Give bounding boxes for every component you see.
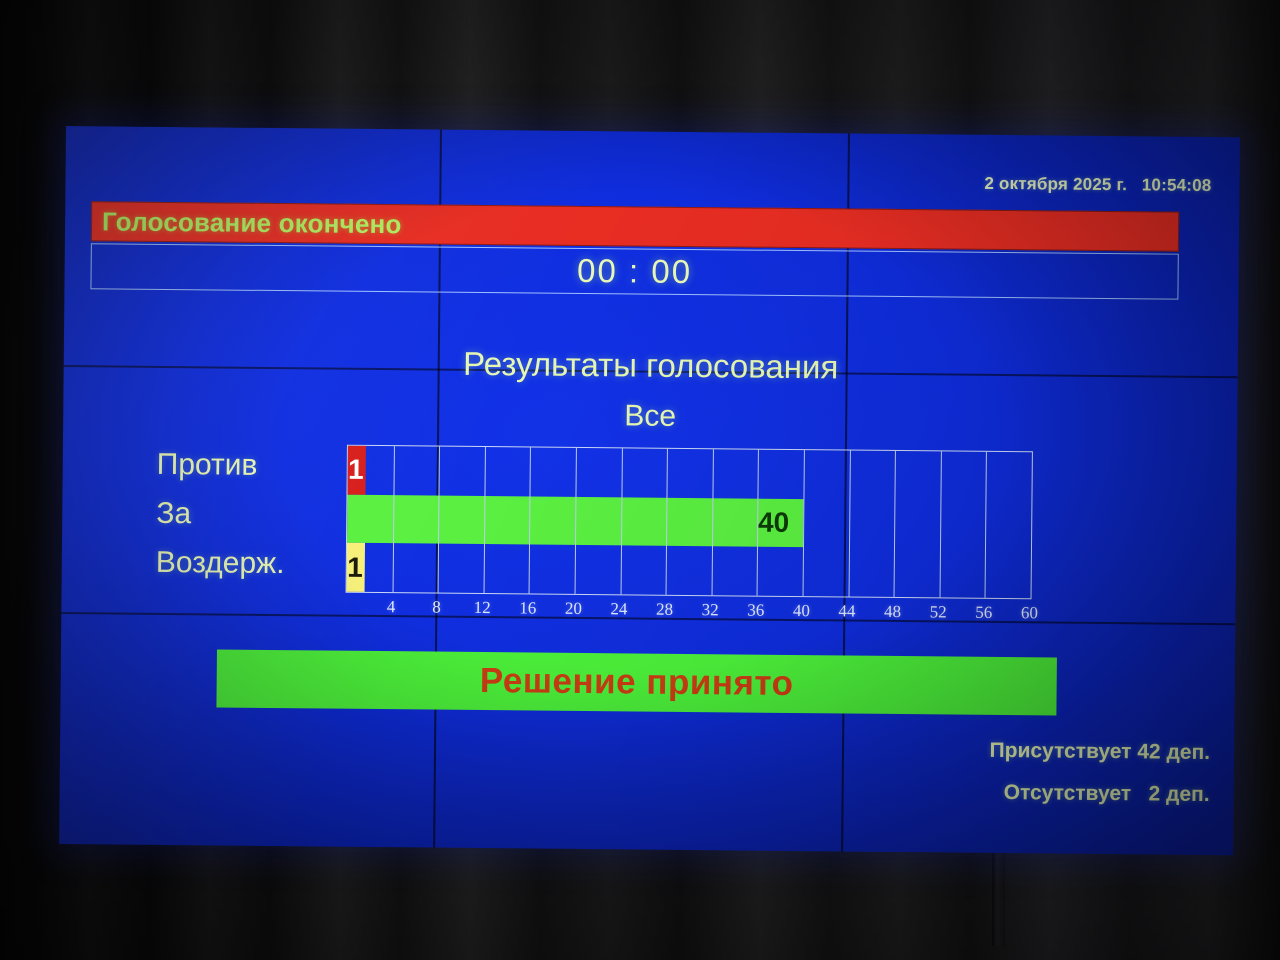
chart-x-tick: 16	[519, 598, 536, 618]
chart-x-tick: 24	[610, 599, 627, 619]
vote-results-chart: Против За Воздерж. 1 40 1 48121620242832…	[61, 436, 1237, 637]
chart-x-tick: 56	[975, 603, 992, 623]
countdown-timer-value: 00 : 00	[577, 252, 692, 291]
countdown-timer-box: 00 : 00	[90, 243, 1178, 299]
chart-row-label-against: Против	[157, 448, 347, 484]
attendance-present: Присутствует 42 деп.	[989, 739, 1210, 765]
voting-status-label: Голосование окончено	[92, 206, 402, 240]
results-scope-label: Все	[63, 394, 1237, 439]
chart-row-label-for: За	[156, 497, 346, 533]
chart-x-tick: 4	[387, 597, 396, 617]
chart-x-tick: 40	[793, 601, 810, 621]
attendance-absent: Отсутствует 2 деп.	[989, 781, 1210, 807]
attendance-block: Присутствует 42 деп. Отсутствует 2 деп.	[989, 739, 1210, 825]
chart-gridline	[894, 451, 896, 597]
chart-gridline	[803, 450, 805, 596]
bar-value-for: 40	[758, 509, 803, 537]
chart-gridline	[848, 451, 850, 597]
chart-gridline	[939, 451, 941, 597]
chart-x-tick: 48	[884, 602, 901, 622]
bar-abstain: 1	[347, 543, 365, 592]
chart-x-tick: 36	[747, 601, 764, 621]
video-wall-screen: 2 октября 2025 г. 10:54:08 Голосование о…	[59, 126, 1240, 855]
chart-x-tick: 28	[656, 600, 673, 620]
chart-x-tick: 44	[838, 601, 855, 621]
bar-against: 1	[347, 446, 365, 495]
chart-x-tick: 12	[474, 598, 491, 618]
chart-row-label-abstain: Воздерж.	[156, 546, 346, 582]
chart-plot-area: 1 40 1	[346, 445, 1033, 600]
decision-label: Решение принято	[480, 661, 794, 704]
chart-x-tick: 20	[565, 599, 582, 619]
date-time-display: 2 октября 2025 г. 10:54:08	[984, 174, 1211, 196]
screen-surface: 2 октября 2025 г. 10:54:08 Голосование о…	[59, 126, 1240, 855]
chart-x-tick: 32	[702, 600, 719, 620]
chart-x-tick: 60	[1021, 603, 1038, 623]
chart-x-axis: 4812162024283236404448525660	[345, 597, 1031, 634]
bar-value-abstain: 1	[347, 553, 365, 581]
decision-banner: Решение принято	[216, 649, 1057, 715]
results-title: Результаты голосования	[64, 341, 1238, 390]
chart-x-tick: 52	[930, 602, 947, 622]
chart-gridline	[985, 452, 987, 598]
chart-x-tick: 8	[432, 598, 441, 618]
bar-value-against: 1	[348, 456, 366, 484]
screen-stand-pole	[992, 846, 1005, 946]
